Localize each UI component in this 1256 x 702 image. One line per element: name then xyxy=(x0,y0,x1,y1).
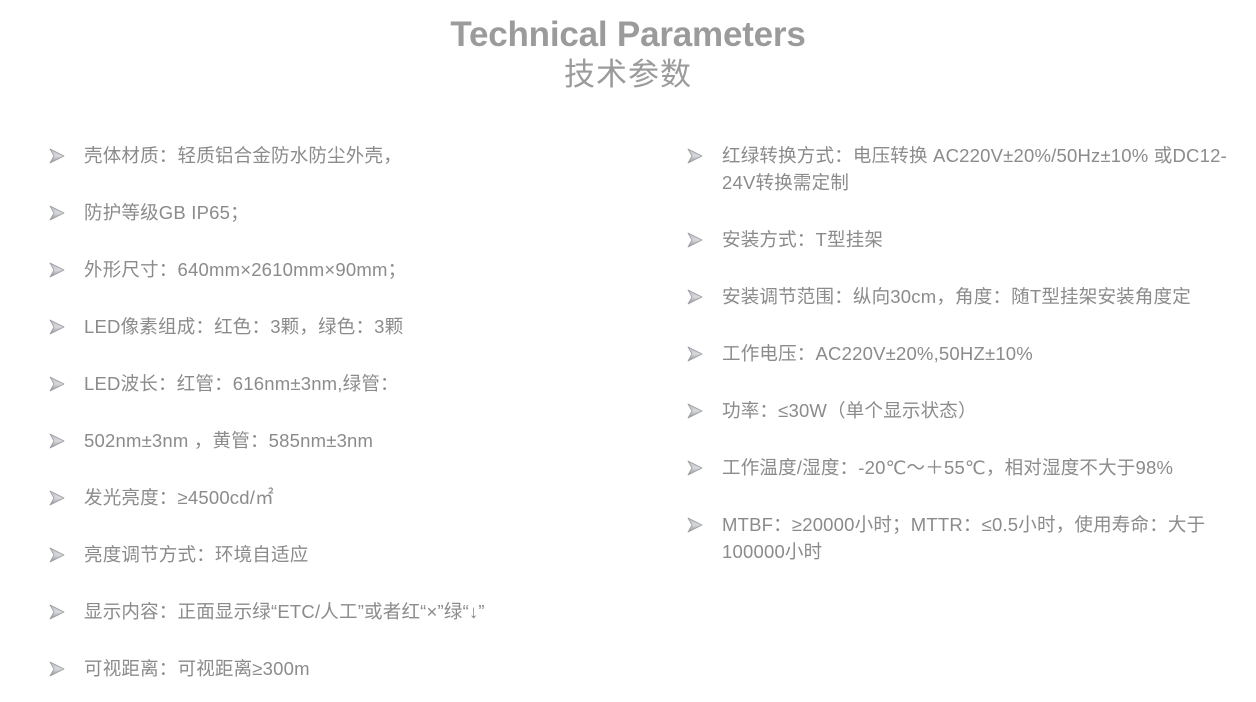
list-item-text: 显示内容：正面显示绿“ETC/人工”或者红“×”绿“↓” xyxy=(84,598,626,625)
list-item: 安装调节范围：纵向30cm，角度：随T型挂架安装角度定 xyxy=(684,283,1240,310)
arrow-bullet-icon xyxy=(48,375,68,393)
list-item-text: 功率：≤30W（单个显示状态） xyxy=(722,397,1240,424)
spec-list-left: 壳体材质：轻质铝合金防水防尘外壳， 防护等级GB IP65； 外形尺寸：640m… xyxy=(46,142,626,682)
arrow-bullet-icon xyxy=(686,288,706,306)
list-item-text: 工作电压：AC220V±20%,50HZ±10% xyxy=(722,340,1240,367)
list-item: 亮度调节方式：环境自适应 xyxy=(46,541,626,568)
arrow-bullet-icon xyxy=(48,432,68,450)
list-item-text: 可视距离：可视距离≥300m xyxy=(84,655,626,682)
list-item: 壳体材质：轻质铝合金防水防尘外壳， xyxy=(46,142,626,169)
page-title-chinese: 技术参数 xyxy=(0,55,1256,95)
arrow-bullet-icon xyxy=(686,402,706,420)
spec-list-right: 红绿转换方式：电压转换 AC220V±20%/50Hz±10% 或DC12-24… xyxy=(684,142,1240,565)
arrow-bullet-icon xyxy=(48,204,68,222)
list-item-text: 502nm±3nm ，黄管：585nm±3nm xyxy=(84,427,626,454)
list-item: 外形尺寸：640mm×2610mm×90mm； xyxy=(46,256,626,283)
list-item: 红绿转换方式：电压转换 AC220V±20%/50Hz±10% 或DC12-24… xyxy=(684,142,1240,196)
list-item-text: 工作温度/湿度：-20℃～＋55℃，相对湿度不大于98% xyxy=(722,454,1240,481)
spec-column-right: 红绿转换方式：电压转换 AC220V±20%/50Hz±10% 或DC12-24… xyxy=(684,142,1240,565)
list-item: MTBF：≥20000小时；MTTR：≤0.5小时，使用寿命：大于100000小… xyxy=(684,511,1240,565)
list-item-text: 安装方式：T型挂架 xyxy=(722,226,1240,253)
arrow-bullet-icon xyxy=(48,603,68,621)
arrow-bullet-icon xyxy=(686,516,706,534)
arrow-bullet-icon xyxy=(686,345,706,363)
arrow-bullet-icon xyxy=(48,147,68,165)
list-item-text: 红绿转换方式：电压转换 AC220V±20%/50Hz±10% 或DC12-24… xyxy=(722,142,1240,196)
arrow-bullet-icon xyxy=(48,261,68,279)
list-item-text: 发光亮度：≥4500cd/㎡ xyxy=(84,484,626,511)
list-item: LED波长：红管：616nm±3nm,绿管： xyxy=(46,370,626,397)
list-item-text: 安装调节范围：纵向30cm，角度：随T型挂架安装角度定 xyxy=(722,283,1240,310)
list-item-text: LED像素组成：红色：3颗，绿色：3颗 xyxy=(84,313,626,340)
arrow-bullet-icon xyxy=(48,489,68,507)
arrow-bullet-icon xyxy=(48,318,68,336)
arrow-bullet-icon xyxy=(686,147,706,165)
arrow-bullet-icon xyxy=(48,660,68,678)
list-item: LED像素组成：红色：3颗，绿色：3颗 xyxy=(46,313,626,340)
list-item: 502nm±3nm ，黄管：585nm±3nm xyxy=(46,427,626,454)
list-item-text: 外形尺寸：640mm×2610mm×90mm； xyxy=(84,256,626,283)
list-item: 安装方式：T型挂架 xyxy=(684,226,1240,253)
arrow-bullet-icon xyxy=(48,546,68,564)
list-item: 工作温度/湿度：-20℃～＋55℃，相对湿度不大于98% xyxy=(684,454,1240,481)
list-item-text: LED波长：红管：616nm±3nm,绿管： xyxy=(84,370,626,397)
list-item-text: MTBF：≥20000小时；MTTR：≤0.5小时，使用寿命：大于100000小… xyxy=(722,511,1240,565)
arrow-bullet-icon xyxy=(686,231,706,249)
list-item: 可视距离：可视距离≥300m xyxy=(46,655,626,682)
heading-block: Technical Parameters 技术参数 xyxy=(0,14,1256,96)
list-item: 显示内容：正面显示绿“ETC/人工”或者红“×”绿“↓” xyxy=(46,598,626,625)
list-item-text: 壳体材质：轻质铝合金防水防尘外壳， xyxy=(84,142,626,169)
list-item: 发光亮度：≥4500cd/㎡ xyxy=(46,484,626,511)
page-title-english: Technical Parameters xyxy=(0,14,1256,55)
list-item: 功率：≤30W（单个显示状态） xyxy=(684,397,1240,424)
arrow-bullet-icon xyxy=(686,459,706,477)
list-item: 工作电压：AC220V±20%,50HZ±10% xyxy=(684,340,1240,367)
slide-root: Technical Parameters 技术参数 xyxy=(0,0,1256,702)
list-item: 防护等级GB IP65； xyxy=(46,199,626,226)
spec-column-left: 壳体材质：轻质铝合金防水防尘外壳， 防护等级GB IP65； 外形尺寸：640m… xyxy=(46,142,626,682)
spec-columns: 壳体材质：轻质铝合金防水防尘外壳， 防护等级GB IP65； 外形尺寸：640m… xyxy=(0,142,1256,702)
list-item-text: 亮度调节方式：环境自适应 xyxy=(84,541,626,568)
list-item-text: 防护等级GB IP65； xyxy=(84,199,626,226)
